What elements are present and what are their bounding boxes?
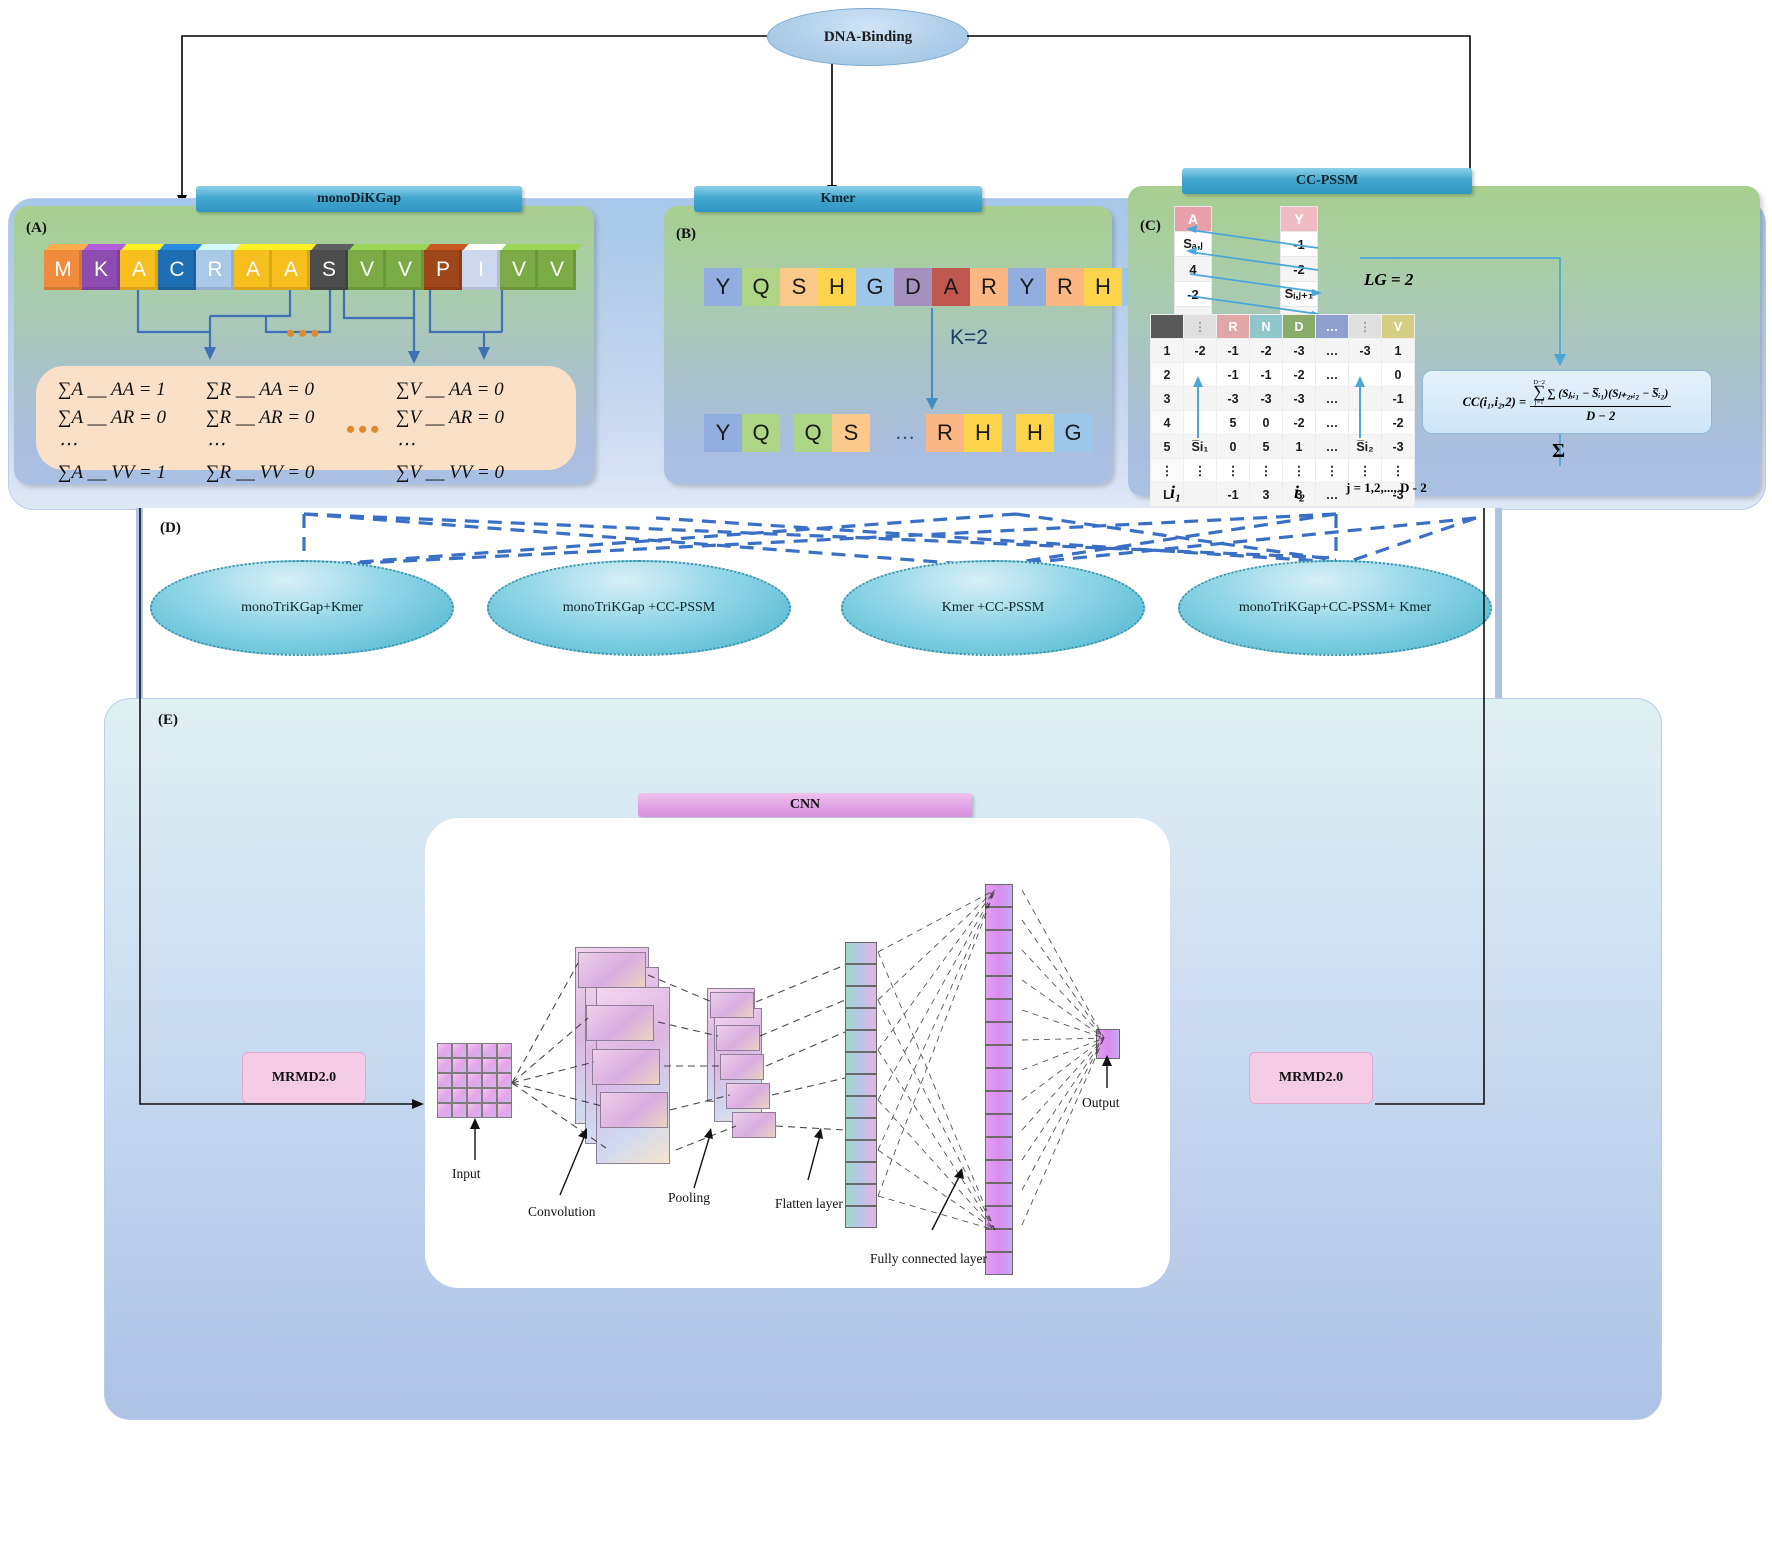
caption-output: Output xyxy=(1082,1095,1120,1111)
cnn-dashed-connections xyxy=(0,0,1772,1561)
caption-pooling: Pooling xyxy=(668,1190,710,1206)
banner-monodikgap-label: monoDiKGap xyxy=(317,191,401,207)
caption-flatten: Flatten layer xyxy=(775,1196,843,1212)
caption-input: Input xyxy=(452,1166,481,1182)
banner-ccpssm: CC-PSSM xyxy=(1182,168,1472,194)
banner-monodikgap: monoDiKGap xyxy=(196,186,522,212)
caption-fully-connected: Fully connected layer xyxy=(870,1251,987,1267)
banner-kmer: Kmer xyxy=(694,186,982,212)
banner-ccpssm-label: CC-PSSM xyxy=(1296,173,1358,189)
caption-convolution: Convolution xyxy=(528,1204,596,1220)
banner-kmer-label: Kmer xyxy=(821,191,856,207)
